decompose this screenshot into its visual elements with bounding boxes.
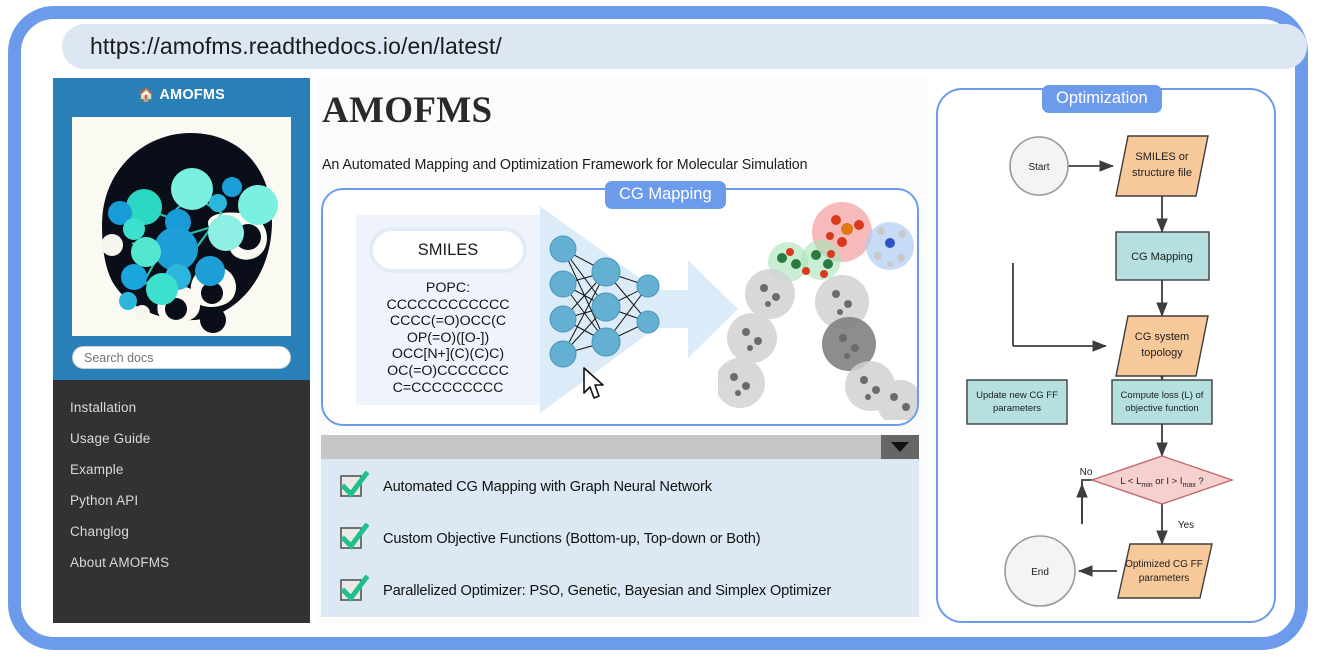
amofms-logo xyxy=(72,117,291,336)
sidebar-brand[interactable]: 🏠 AMOFMS xyxy=(53,78,310,111)
sidebar-item-label: Python API xyxy=(70,493,138,508)
smiles-line: OCC[N+](C)(C)C) xyxy=(356,346,540,363)
smiles-line: POPC: xyxy=(356,280,540,297)
page-title: AMOFMS xyxy=(322,89,928,132)
sidebar-nav: Installation Usage Guide Example Python … xyxy=(53,380,310,578)
coarse-grained-molecule-icon xyxy=(718,198,918,420)
smiles-string: POPC: CCCCCCCCCCCC CCCC(=O)OCC(C OP(=O)(… xyxy=(356,280,540,396)
node-end-label: End xyxy=(1031,567,1049,578)
checkmark-icon xyxy=(339,526,369,552)
sidebar-item-example[interactable]: Example xyxy=(53,454,310,485)
sidebar-item-installation[interactable]: Installation xyxy=(53,392,310,423)
sidebar-search-container xyxy=(53,336,310,380)
sidebar-item-label: About AMOFMS xyxy=(70,555,169,570)
node-topology-label-line1: CG system xyxy=(1135,331,1189,343)
sidebar: 🏠 AMOFMS xyxy=(53,78,310,623)
optimization-badge: Optimization xyxy=(1042,85,1162,113)
smiles-line: OC(=O)CCCCCCC xyxy=(356,363,540,380)
node-optimized-label-line1: Optimized CG FF xyxy=(1125,559,1203,570)
list-item: Custom Objective Functions (Bottom-up, T… xyxy=(321,515,919,563)
sidebar-item-label: Usage Guide xyxy=(70,431,150,446)
node-compute-loss xyxy=(1112,380,1212,424)
node-start-label: Start xyxy=(1028,162,1049,173)
node-input-label-line2: structure file xyxy=(1132,167,1192,179)
node-optimized-label-line2: parameters xyxy=(1139,573,1190,584)
node-cg-mapping-label: CG Mapping xyxy=(1131,251,1193,263)
smiles-box: SMILES POPC: CCCCCCCCCCCC CCCC(=O)OCC(C … xyxy=(356,215,540,405)
page-subtitle: An Automated Mapping and Optimization Fr… xyxy=(322,157,928,173)
home-icon: 🏠 xyxy=(138,87,154,103)
smiles-line: CCCC(=O)OCC(C xyxy=(356,313,540,330)
sidebar-item-usage-guide[interactable]: Usage Guide xyxy=(53,423,310,454)
node-input xyxy=(1116,136,1208,196)
node-input-label-line1: SMILES or xyxy=(1135,151,1189,163)
sidebar-item-python-api[interactable]: Python API xyxy=(53,485,310,516)
url-bar[interactable]: https://amofms.readthedocs.io/en/latest/ xyxy=(62,24,1307,69)
node-topology-label-line2: topology xyxy=(1141,347,1183,359)
feature-label: Custom Objective Functions (Bottom-up, T… xyxy=(383,531,760,547)
search-input[interactable] xyxy=(72,346,291,369)
caret-down-icon xyxy=(891,441,909,453)
sidebar-item-label: Installation xyxy=(70,400,136,415)
smiles-line: OP(=O)([O-]) xyxy=(356,330,540,347)
node-loss-label-line2: objective function xyxy=(1125,403,1198,414)
sidebar-item-about-amofms[interactable]: About AMOFMS xyxy=(53,547,310,578)
cg-mapping-panel: SMILES POPC: CCCCCCCCCCCC CCCC(=O)OCC(C … xyxy=(321,188,919,426)
feature-label: Automated CG Mapping with Graph Neural N… xyxy=(383,479,712,495)
optimization-flowchart: Start SMILES or structure file CG Mappin… xyxy=(936,88,1276,623)
scrollbar-dropdown-arrow[interactable] xyxy=(881,435,919,459)
edge-label-yes: Yes xyxy=(1178,520,1194,531)
list-item: Parallelized Optimizer: PSO, Genetic, Ba… xyxy=(321,567,919,615)
feature-label: Parallelized Optimizer: PSO, Genetic, Ba… xyxy=(383,583,831,599)
smiles-line: CCCCCCCCCCCC xyxy=(356,297,540,314)
node-loss-label-line1: Compute loss (L) of xyxy=(1121,390,1204,401)
checkmark-icon xyxy=(339,578,369,604)
sidebar-item-label: Changlog xyxy=(70,524,129,539)
mouse-cursor-icon xyxy=(583,367,607,401)
url-text: https://amofms.readthedocs.io/en/latest/ xyxy=(90,33,502,60)
node-topology xyxy=(1116,316,1208,376)
sidebar-item-changlog[interactable]: Changlog xyxy=(53,516,310,547)
cg-mapping-badge: CG Mapping xyxy=(605,181,726,209)
node-optimized-params xyxy=(1118,544,1212,598)
feature-list: Automated CG Mapping with Graph Neural N… xyxy=(321,459,919,617)
node-update-params xyxy=(967,380,1067,424)
checkmark-icon xyxy=(339,474,369,500)
smiles-label: SMILES xyxy=(373,231,523,269)
node-update-label-line1: Update new CG FF xyxy=(976,390,1058,401)
main-content: AMOFMS An Automated Mapping and Optimiza… xyxy=(316,78,928,623)
sidebar-logo-container xyxy=(53,111,310,336)
node-update-label-line2: parameters xyxy=(993,403,1041,414)
sidebar-item-label: Example xyxy=(70,462,124,477)
neural-network-arrow-icon xyxy=(538,202,743,417)
edge-label-no: No xyxy=(1080,467,1093,478)
sidebar-brand-label: AMOFMS xyxy=(159,87,225,103)
smiles-line: C=CCCCCCCCC xyxy=(356,380,540,397)
list-item: Automated CG Mapping with Graph Neural N… xyxy=(321,463,919,511)
horizontal-scrollbar[interactable] xyxy=(321,435,919,459)
